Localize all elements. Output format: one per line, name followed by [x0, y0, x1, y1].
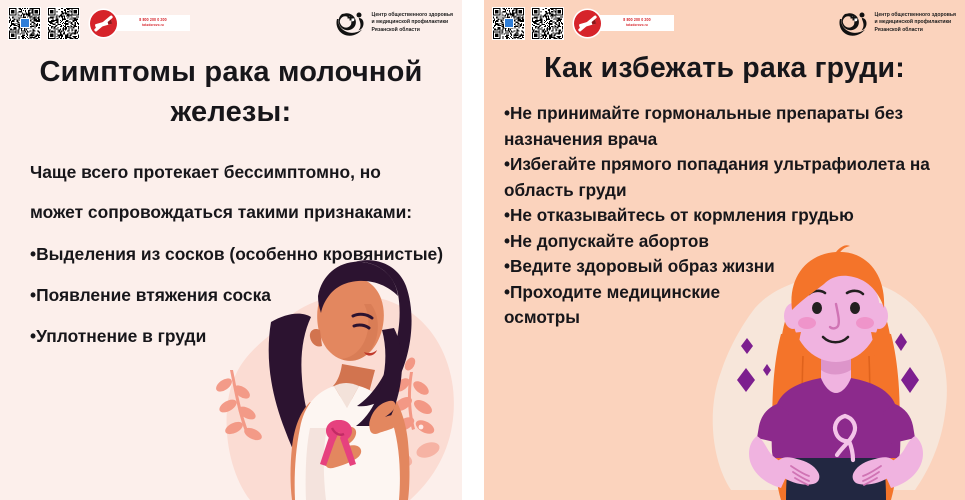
qr-code-plain[interactable] [47, 7, 80, 40]
panel-divider [462, 0, 484, 500]
header-logos-left: 8 800 200 0 200 takzdorovo.ru [0, 7, 190, 40]
header-logos-left: 8 800 200 0 200 takzdorovo.ru [484, 7, 674, 40]
poster-right-body: •Не принимайте гормональные препараты бе… [504, 101, 956, 331]
list-item: •Ведите здоровый образ жизни [504, 254, 956, 280]
hotline-plate: 8 800 200 0 200 takzdorovo.ru [595, 15, 674, 31]
qr-code-vk[interactable] [8, 7, 41, 40]
poster-pair: 8 800 200 0 200 takzdorovo.ru Центр общ [0, 0, 965, 500]
hotline-site: takzdorovo.ru [605, 23, 669, 29]
poster-right-header: 8 800 200 0 200 takzdorovo.ru Центр общ [484, 0, 965, 46]
org-logo-text: Центр общественного здоровья и медицинск… [372, 12, 453, 34]
list-item: •Выделения из сосков (особенно кровянист… [30, 234, 450, 275]
vk-square-icon [20, 18, 30, 28]
no-smoking-icon [574, 10, 601, 37]
vk-square-icon [504, 18, 514, 28]
no-smoking-icon [90, 10, 117, 37]
org-line-2: и медицинской профилактики [372, 19, 453, 26]
hotline-plate: 8 800 200 0 200 takzdorovo.ru [111, 15, 190, 31]
header-logos-right: Центр общественного здоровья и медицинск… [334, 9, 462, 38]
qr-code-plain[interactable] [531, 7, 564, 40]
poster-left-body: Чаще всего протекает бессимптомно, но мо… [30, 152, 450, 357]
health-center-emblem-icon [837, 9, 870, 38]
list-item: •Избегайте прямого попадания ультрафиоле… [504, 152, 956, 203]
org-logo-text: Центр общественного здоровья и медицинск… [875, 12, 956, 34]
qr-code-vk[interactable] [492, 7, 525, 40]
lead-line: Чаще всего протекает бессимптомно, но [30, 152, 450, 192]
lead-paragraph: Чаще всего протекает бессимптомно, но мо… [30, 152, 450, 232]
list-item: •Не отказывайтесь от кормления грудью [504, 203, 956, 229]
poster-left-header: 8 800 200 0 200 takzdorovo.ru Центр общ [0, 0, 462, 46]
poster-right: 8 800 200 0 200 takzdorovo.ru Центр общ [484, 0, 965, 500]
list-item: •Уплотнение в груди [30, 316, 450, 357]
list-item: •Не принимайте гормональные препараты бе… [504, 101, 956, 152]
poster-left: 8 800 200 0 200 takzdorovo.ru Центр общ [0, 0, 462, 500]
header-logos-right: Центр общественного здоровья и медицинск… [837, 9, 965, 38]
org-line-2: и медицинской профилактики [875, 19, 956, 26]
org-line-3: Рязанской области [875, 27, 956, 34]
tobacco-hotline-logo: 8 800 200 0 200 takzdorovo.ru [90, 10, 190, 37]
tobacco-hotline-logo: 8 800 200 0 200 takzdorovo.ru [574, 10, 674, 37]
symptom-list: •Выделения из сосков (особенно кровянист… [30, 234, 450, 357]
health-center-emblem-icon [334, 9, 367, 38]
org-line-3: Рязанской области [372, 27, 453, 34]
hotline-site: takzdorovo.ru [121, 23, 185, 29]
list-item: •Проходите медицинские осмотры [504, 280, 754, 331]
list-item: •Не допускайте абортов [504, 229, 956, 255]
poster-left-title: Симптомы рака молочной железы: [34, 52, 428, 132]
lead-line: может сопровождаться такими признаками: [30, 192, 450, 232]
list-item: •Появление втяжения соска [30, 275, 450, 316]
poster-right-title: Как избежать рака груди: [508, 48, 941, 88]
